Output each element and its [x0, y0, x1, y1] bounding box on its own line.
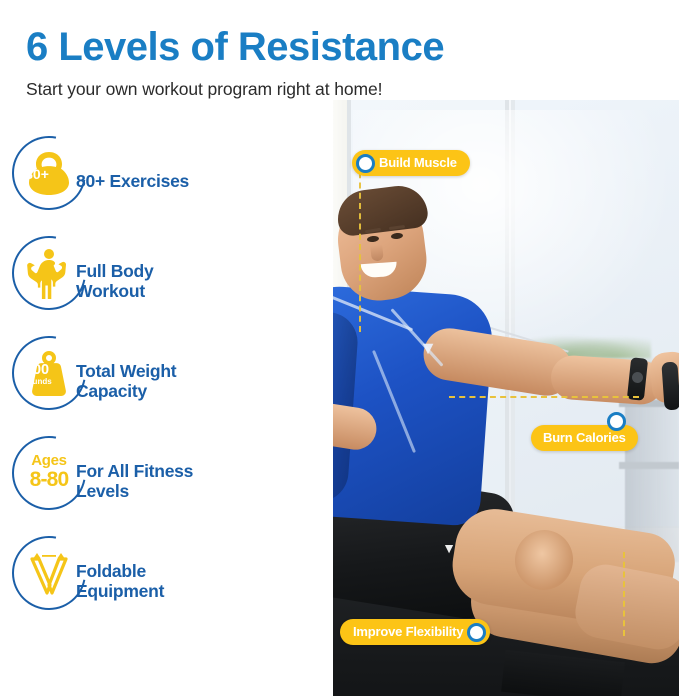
leader-line-build-muscle [359, 162, 361, 332]
feature-item-foldable: Foldable Equipment [0, 532, 330, 632]
bodybuilder-icon [12, 236, 86, 310]
callout-label: Improve Flexibility [353, 619, 463, 645]
machine-grip-handle [661, 362, 679, 411]
feature-item-full-body: Full Body Workout [0, 232, 330, 332]
callout-build-muscle[interactable]: Build Muscle [352, 150, 470, 176]
header: 6 Levels of Resistance Start your own wo… [26, 26, 646, 100]
feature-item-weight-capacity: 400 Pounds Total Weight Capacity [0, 332, 330, 432]
feature-label-line1: Total Weight [76, 361, 176, 381]
feature-label: 80+ Exercises [76, 172, 189, 192]
kettlebell-badge: 80+ [0, 132, 74, 206]
product-photo: Total Gym Training Today for a Better Wa… [333, 100, 679, 696]
feature-label-line2: Capacity [76, 381, 147, 401]
feature-label-line2: Levels [76, 481, 129, 501]
feature-label: Total Weight Capacity [76, 362, 176, 402]
feature-label-line1: Full Body [76, 261, 153, 281]
callout-marker-icon [607, 412, 626, 431]
callout-label: Build Muscle [379, 150, 457, 176]
ages-range: 8-80 [30, 468, 69, 492]
feature-label-line2: Workout [76, 281, 145, 301]
feature-item-all-fitness-levels: Ages 8-80 For All Fitness Levels [0, 432, 330, 532]
foldable-icon [12, 536, 86, 610]
feature-label-line2: Equipment [76, 581, 164, 601]
watch-face [632, 372, 643, 383]
feature-label-line1: Foldable [76, 561, 146, 581]
nose [370, 244, 384, 261]
callout-improve-flexibility[interactable]: Improve Flexibility [340, 619, 490, 645]
weight-badge: 400 Pounds [0, 332, 74, 406]
leader-line-burn-calories [449, 396, 639, 398]
ages-label: Ages [31, 453, 66, 468]
background-rack-bar [619, 462, 679, 469]
callout-marker-icon [356, 154, 375, 173]
callout-marker-icon [467, 623, 486, 642]
feature-label: Foldable Equipment [76, 562, 164, 602]
page-title: 6 Levels of Resistance [26, 26, 646, 68]
feature-label-line1: 80+ Exercises [76, 171, 189, 191]
weight-badge-unit: Pounds [22, 377, 51, 387]
page-subtitle: Start your own workout program right at … [26, 79, 646, 100]
leader-line-improve-flexibility [623, 552, 625, 636]
feature-item-exercises: 80+ 80+ Exercises [0, 132, 330, 232]
callout-burn-calories[interactable]: Burn Calories [531, 425, 638, 451]
ages-text-icon: Ages 8-80 [12, 436, 86, 510]
feature-label: Full Body Workout [76, 262, 153, 302]
feature-label: For All Fitness Levels [76, 462, 193, 502]
feature-list: 80+ 80+ Exercises Full Body Workout [0, 132, 330, 632]
athlete-torso [333, 283, 495, 527]
feature-label-line1: For All Fitness [76, 461, 193, 481]
under-armour-icon: ▼ [417, 338, 439, 359]
weight-badge-value: 400 [25, 363, 49, 378]
